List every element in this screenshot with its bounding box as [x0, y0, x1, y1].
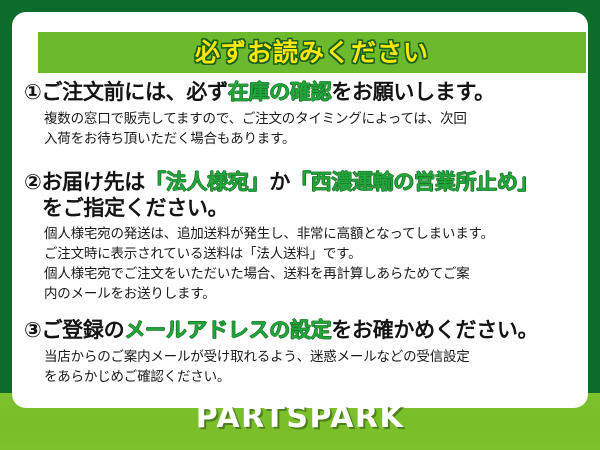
- item-2-body-line-1: 個人様宅宛の発送は、追加送料が発生し、非常に高額となってしまいます。: [44, 225, 600, 245]
- item-1-body-line-2: 入荷をお待ち頂いただく場合もあります。: [44, 130, 600, 150]
- item-2-body-line-2: ご注文時に表示されている送料は「法人送料」です。: [44, 245, 600, 265]
- notice-body: ①ご注文前には、必ず在庫の確認をお願いします。 複数の窓口で販売してますので、ご…: [24, 78, 600, 408]
- item-2-heading: ②お届け先は「法人様宛」か「西濃運輸の営業所止め」 をご指定ください。: [24, 170, 600, 221]
- item-3-body: 当店からのご案内メールが受け取れるよう、迷惑メールなどの受信設定 をあらかじめご…: [24, 348, 600, 388]
- item-1-heading-part-3: をお願いします。: [331, 80, 495, 104]
- item-2-heading-part-1: お届け先は: [41, 170, 145, 194]
- item-3-heading: ③ご登録のメールアドレスの設定をお確かめください。: [24, 318, 600, 344]
- notice-item-2: ②お届け先は「法人様宛」か「西濃運輸の営業所止め」 をご指定ください。 個人様宅…: [24, 170, 600, 305]
- item-1-heading-highlight: 在庫の確認: [228, 80, 332, 104]
- partspark-logo: PARTSPARK: [0, 400, 600, 435]
- item-2-heading-part-3: か: [269, 170, 290, 194]
- item-2-number: ②: [24, 170, 41, 194]
- item-2-body-line-4: 内のメールをお送りします。: [44, 285, 600, 305]
- item-3-number: ③: [24, 318, 41, 342]
- item-3-heading-highlight: メールアドレスの設定: [124, 318, 331, 342]
- item-3-heading-part-3: をお確かめください。: [331, 318, 538, 342]
- item-1-heading: ①ご注文前には、必ず在庫の確認をお願いします。: [24, 80, 600, 106]
- title-banner: 必ずお読みください: [38, 32, 586, 73]
- item-1-number: ①: [24, 80, 41, 104]
- item-1-body: 複数の窓口で販売してますので、ご注文のタイミングによっては、次回 入荷をお待ち頂…: [24, 110, 600, 150]
- item-3-body-line-2: をあらかじめご確認ください。: [44, 368, 600, 388]
- white-content-card: 必ずお読みください ①ご注文前には、必ず在庫の確認をお願いします。 複数の窓口で…: [12, 12, 588, 408]
- item-2-heading-highlight-2: 「西濃運輸の営業所止め」: [290, 170, 538, 194]
- item-3-heading-part-1: ご登録の: [41, 318, 124, 342]
- notice-title: 必ずお読みください: [38, 32, 586, 73]
- notice-banner-frame: 必ずお読みください ①ご注文前には、必ず在庫の確認をお願いします。 複数の窓口で…: [0, 0, 600, 450]
- item-2-body-line-3: 個人様宅宛でご注文をいただいた場合、送料を再計算しあらためてご案: [44, 265, 600, 285]
- notice-item-1: ①ご注文前には、必ず在庫の確認をお願いします。 複数の窓口で販売してますので、ご…: [24, 80, 600, 150]
- item-3-body-line-1: 当店からのご案内メールが受け取れるよう、迷惑メールなどの受信設定: [44, 348, 600, 368]
- item-1-heading-part-1: ご注文前には、必ず: [41, 80, 227, 104]
- notice-item-3: ③ご登録のメールアドレスの設定をお確かめください。 当店からのご案内メールが受け…: [24, 318, 600, 388]
- item-2-heading-line-2: をご指定ください。: [24, 196, 600, 222]
- item-1-body-line-1: 複数の窓口で販売してますので、ご注文のタイミングによっては、次回: [44, 110, 600, 130]
- item-2-body: 個人様宅宛の発送は、追加送料が発生し、非常に高額となってしまいます。 ご注文時に…: [24, 225, 600, 305]
- item-2-heading-highlight-1: 「法人様宛」: [145, 170, 269, 194]
